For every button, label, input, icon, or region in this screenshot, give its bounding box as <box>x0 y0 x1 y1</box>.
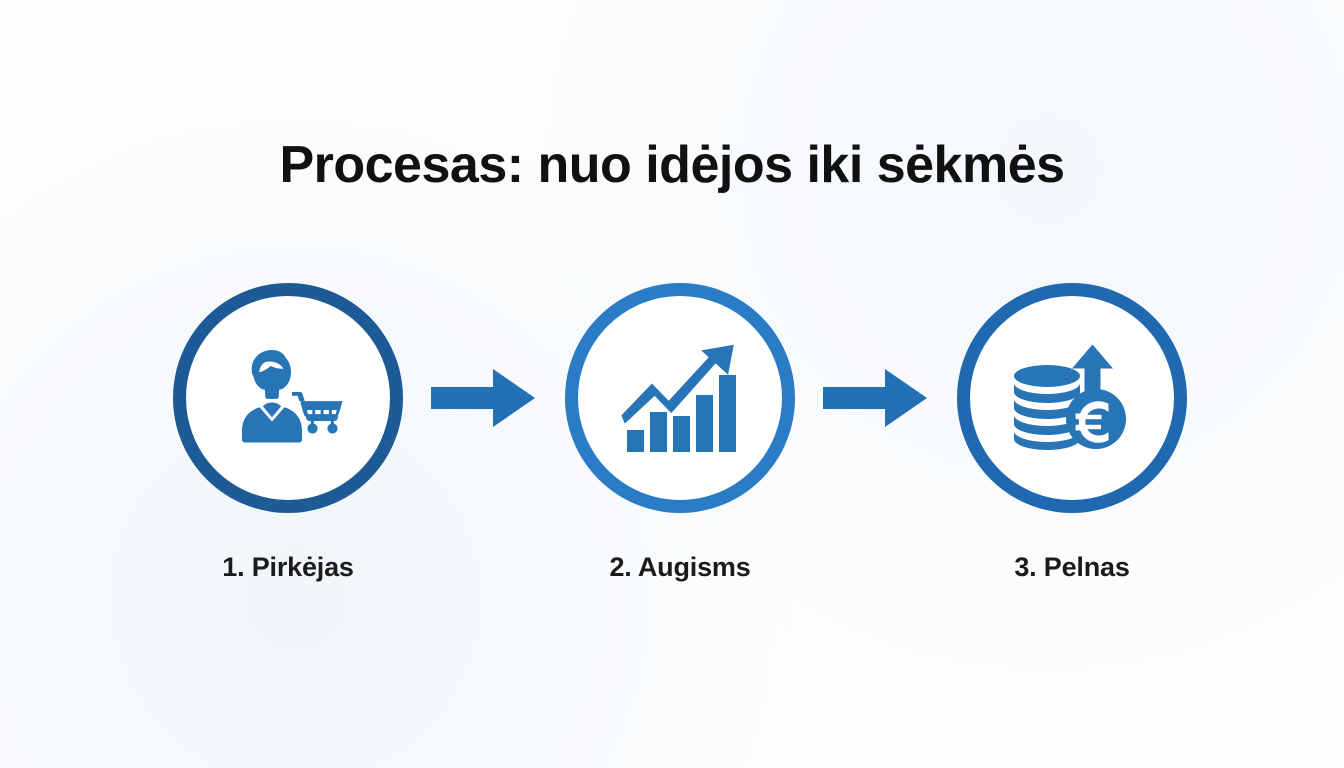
page-title: Procesas: nuo idėjos iki sėkmės <box>0 138 1344 193</box>
step-3-label: 3. Pelnas <box>952 552 1192 583</box>
process-step-1[interactable] <box>168 278 408 518</box>
caption-spacer-1 <box>428 552 540 583</box>
step-2-label: 2. Augisms <box>560 552 800 583</box>
connector-arrow-2 <box>820 363 932 433</box>
coins-euro-up-arrow-icon <box>952 278 1192 518</box>
customer-cart-icon <box>168 278 408 518</box>
connector-arrow-1 <box>428 363 540 433</box>
caption-spacer-2 <box>820 552 932 583</box>
process-flow <box>168 278 1192 518</box>
caption-cell-1: 1. Pirkėjas <box>168 552 408 583</box>
step-1-label: 1. Pirkėjas <box>168 552 408 583</box>
process-step-2[interactable] <box>560 278 800 518</box>
caption-cell-3: 3. Pelnas <box>952 552 1192 583</box>
process-step-3[interactable] <box>952 278 1192 518</box>
caption-cell-2: 2. Augisms <box>560 552 800 583</box>
growth-chart-arrow-icon <box>560 278 800 518</box>
process-diagram-slide: Procesas: nuo idėjos iki sėkmės <box>0 0 1344 768</box>
process-captions: 1. Pirkėjas 2. Augisms 3. Pelnas <box>168 552 1192 583</box>
